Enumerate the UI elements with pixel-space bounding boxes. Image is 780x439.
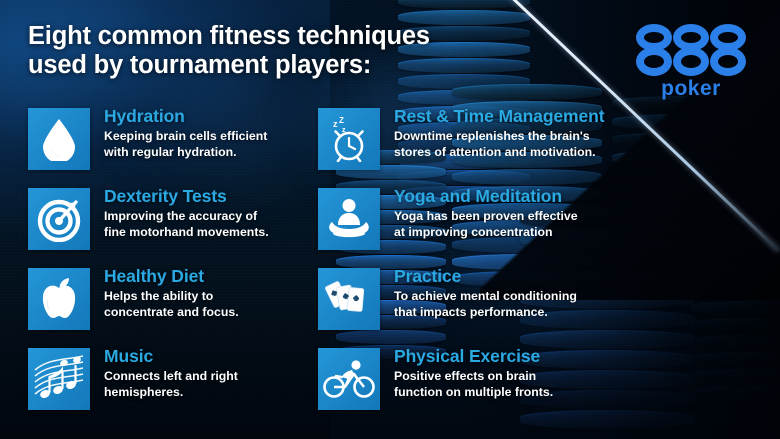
- logo-digit-8-second: [673, 24, 709, 76]
- item-practice[interactable]: Practice To achieve mental conditioning …: [318, 268, 648, 348]
- item-heading: Physical Exercise: [394, 346, 724, 367]
- bicycle-cyclist-icon: [318, 348, 380, 410]
- water-drop-icon: [28, 108, 90, 170]
- logo-word-poker: poker: [636, 77, 746, 101]
- page-title-line1: Eight common fitness techniques: [28, 22, 498, 51]
- left-column: Hydration Keeping brain cells efficient …: [28, 108, 298, 428]
- logo-digit-8-first: [636, 24, 672, 76]
- logo-digits: [636, 24, 746, 76]
- infographic-canvas: Eight common fitness techniques used by …: [0, 0, 780, 439]
- item-heading: Rest & Time Management: [394, 106, 724, 127]
- item-heading: Practice: [394, 266, 724, 287]
- apple-icon: [28, 268, 90, 330]
- page-title-line2: used by tournament players:: [28, 51, 498, 80]
- item-body: Downtime replenishes the brain's stores …: [394, 129, 724, 160]
- brand-logo[interactable]: poker: [636, 24, 746, 101]
- music-notes-icon: [28, 348, 90, 410]
- item-rest-time-management[interactable]: z Z z Rest & Time Management Downtime re…: [318, 108, 648, 188]
- item-yoga-meditation[interactable]: Yoga and Meditation Yoga has been proven…: [318, 188, 648, 268]
- item-text: Physical Exercise Positive effects on br…: [394, 346, 724, 400]
- alarm-clock-sleep-icon: z Z z: [318, 108, 380, 170]
- item-hydration[interactable]: Hydration Keeping brain cells efficient …: [28, 108, 298, 188]
- meditation-yoga-icon: [318, 188, 380, 250]
- item-dexterity-tests[interactable]: Dexterity Tests Improving the accuracy o…: [28, 188, 298, 268]
- item-text: Practice To achieve mental conditioning …: [394, 266, 724, 320]
- playing-cards-icon: [318, 268, 380, 330]
- item-healthy-diet[interactable]: Healthy Diet Helps the ability to concen…: [28, 268, 298, 348]
- item-text: Rest & Time Management Downtime replenis…: [394, 106, 724, 160]
- right-column: z Z z Rest & Time Management Downtime re…: [318, 108, 648, 428]
- logo-digit-8-third: [710, 24, 746, 76]
- item-text: Yoga and Meditation Yoga has been proven…: [394, 186, 724, 240]
- dartboard-target-icon: [28, 188, 90, 250]
- page-title: Eight common fitness techniques used by …: [28, 22, 498, 80]
- svg-text:Z: Z: [339, 116, 344, 125]
- item-heading: Yoga and Meditation: [394, 186, 724, 207]
- svg-text:z: z: [333, 119, 338, 129]
- item-body: To achieve mental conditioning that impa…: [394, 289, 724, 320]
- item-physical-exercise[interactable]: Physical Exercise Positive effects on br…: [318, 348, 648, 428]
- item-body: Yoga has been proven effective at improv…: [394, 209, 724, 240]
- item-music[interactable]: Music Connects left and right hemisphere…: [28, 348, 298, 428]
- item-body: Positive effects on brain function on mu…: [394, 369, 724, 400]
